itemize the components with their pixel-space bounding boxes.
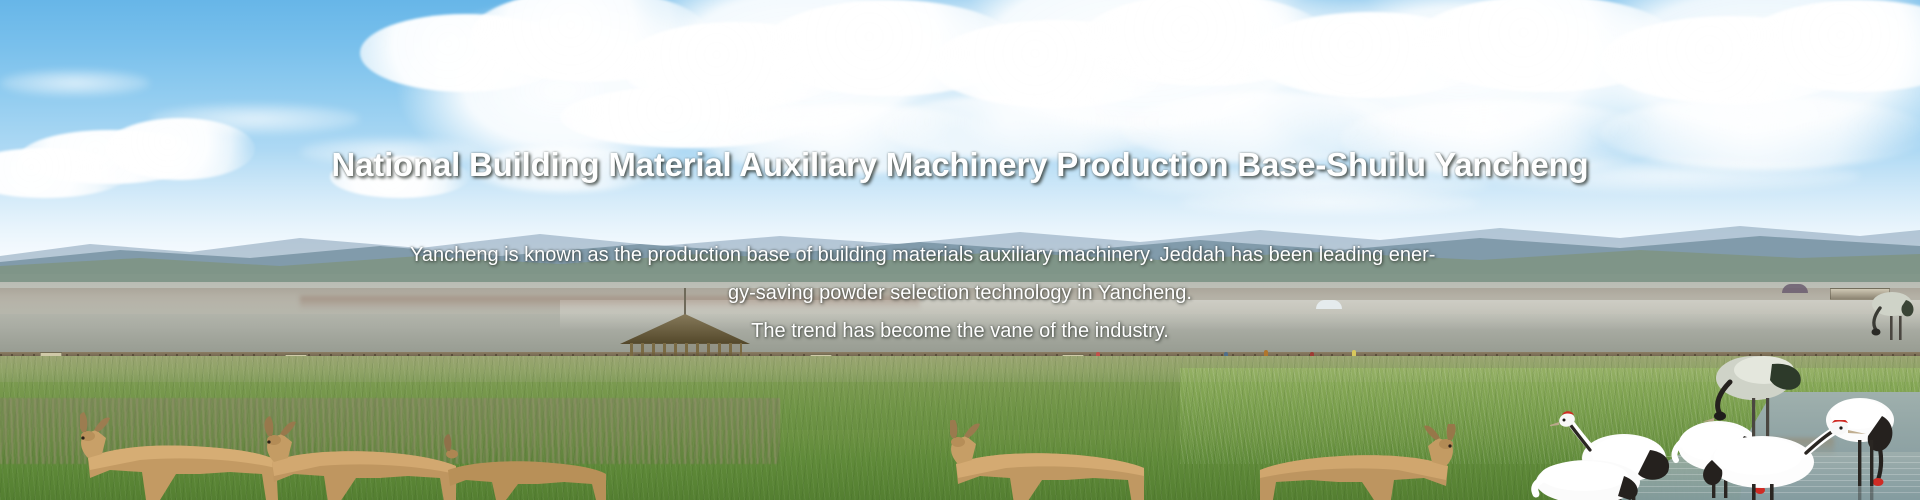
mud-sandbar — [300, 296, 920, 310]
milu-deer — [80, 408, 290, 500]
parasol-icon — [1782, 284, 1808, 293]
milu-deer — [262, 416, 462, 500]
cloud-wisp — [0, 70, 150, 96]
milu-deer — [440, 430, 610, 500]
red-crowned-crane — [1700, 420, 1870, 500]
cloud-wisp — [1060, 56, 1260, 84]
pavilion-roof-shading — [620, 314, 750, 344]
flag-mast — [684, 288, 686, 316]
milu-deer — [950, 420, 1150, 500]
milu-deer — [1248, 424, 1458, 500]
red-crowned-crane — [1528, 452, 1658, 500]
red-crowned-crane — [1866, 290, 1920, 344]
parasol-icon — [1316, 300, 1342, 309]
cloud-wisp — [150, 104, 360, 134]
hero-banner: National Building Material Auxiliary Mac… — [0, 0, 1920, 500]
